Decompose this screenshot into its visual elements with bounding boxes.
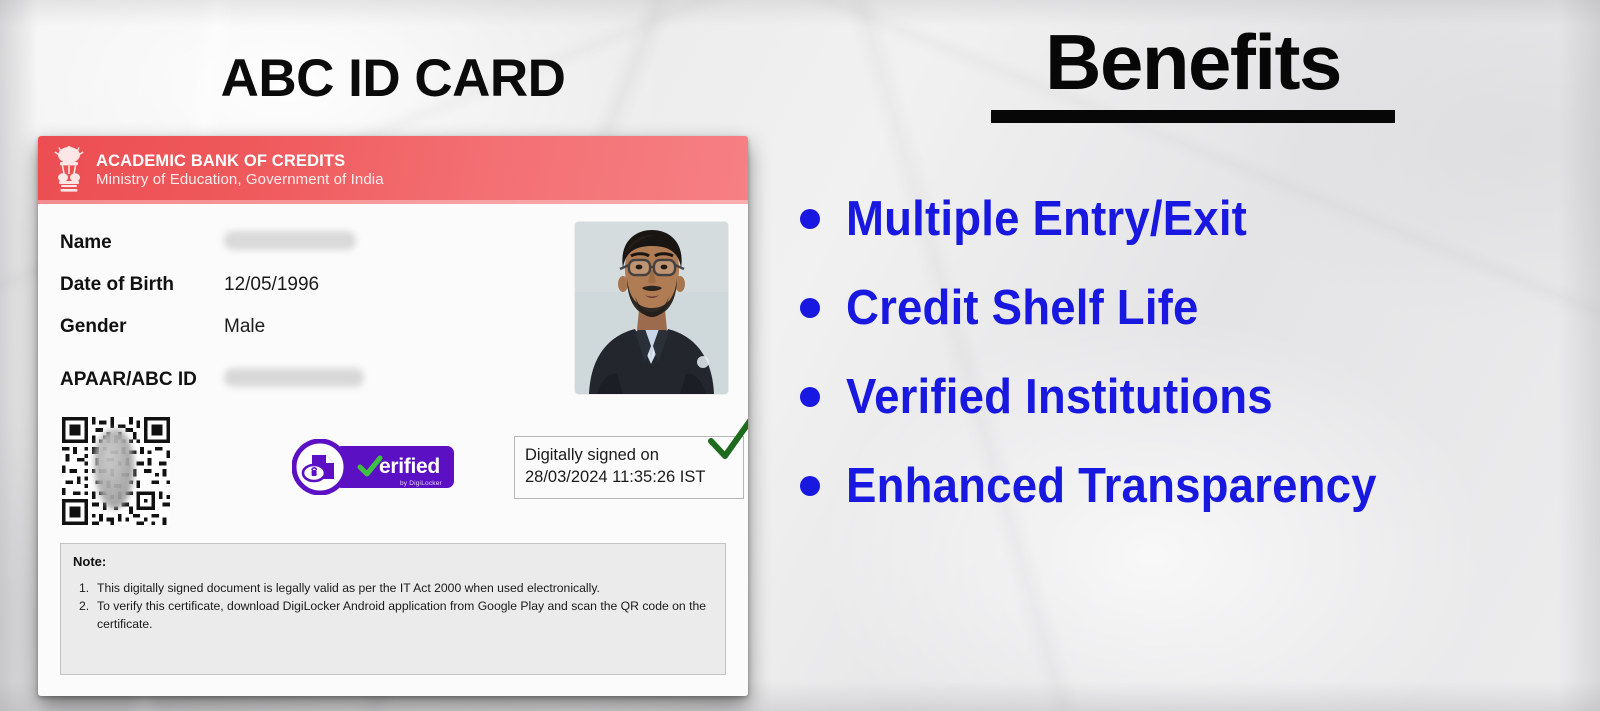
green-check-mark-icon [705, 414, 748, 462]
note-list: 1. This digitally signed document is leg… [73, 580, 713, 633]
digilocker-logo-icon [292, 439, 348, 495]
field-value-redacted [224, 368, 364, 393]
abc-id-card: ACADEMIC BANK OF CREDITS Ministry of Edu… [38, 136, 748, 696]
card-fields: Name Date of Birth 12/05/1996 Gender Mal… [60, 222, 520, 401]
signed-on-label: Digitally signed on [525, 445, 733, 467]
note-title: Note: [73, 554, 713, 569]
bullet-dot-icon [800, 298, 820, 318]
note-item: 2. To verify this certificate, download … [73, 598, 713, 633]
benefit-label: Credit Shelf Life [846, 280, 1199, 336]
field-label: Date of Birth [60, 274, 224, 296]
digilocker-verified-badge: erified by DigiLocker [292, 439, 454, 495]
slide-background: ABC ID CARD ACADE [0, 0, 1600, 711]
note-item-number: 2. [79, 598, 89, 615]
bullet-dot-icon [800, 476, 820, 496]
field-row-apaar-abc-id: APAAR/ABC ID [60, 359, 520, 401]
benefits-list: Multiple Entry/Exit Credit Shelf Life Ve… [786, 175, 1600, 531]
list-item: Enhanced Transparency [792, 442, 1600, 531]
card-header-text: ACADEMIC BANK OF CREDITS Ministry of Edu… [96, 151, 384, 189]
benefit-label: Verified Institutions [846, 369, 1273, 425]
benefits-title: Benefits [1045, 22, 1341, 104]
benefits-underline [991, 110, 1395, 123]
signed-on-timestamp: 28/03/2024 11:35:26 IST [525, 467, 733, 489]
organisation-subtitle: Ministry of Education, Government of Ind… [96, 171, 384, 189]
benefit-label: Enhanced Transparency [846, 458, 1377, 514]
bullet-dot-icon [800, 209, 820, 229]
field-row-dob: Date of Birth 12/05/1996 [60, 264, 520, 306]
organisation-name: ACADEMIC BANK OF CREDITS [96, 151, 384, 171]
card-header: ACADEMIC BANK OF CREDITS Ministry of Edu… [38, 136, 748, 204]
list-item: Credit Shelf Life [792, 264, 1600, 353]
benefit-label: Multiple Entry/Exit [846, 191, 1247, 247]
benefits-panel: Benefits Multiple Entry/Exit Credit Shel… [786, 0, 1600, 711]
verified-sublabel: by DigiLocker [400, 480, 442, 487]
field-row-gender: Gender Male [60, 306, 520, 348]
person-portrait-photo [575, 222, 728, 394]
qr-code-icon [60, 417, 172, 525]
field-label: APAAR/ABC ID [60, 369, 224, 391]
field-value-redacted [224, 231, 356, 256]
page-title: ABC ID CARD [0, 48, 786, 109]
field-label: Name [60, 232, 224, 254]
field-row-name: Name [60, 222, 520, 264]
redacted-id-value [224, 368, 364, 387]
card-body: Name Date of Birth 12/05/1996 Gender Mal… [38, 204, 748, 529]
note-item-number: 1. [79, 580, 89, 597]
note-panel: Note: 1. This digitally signed document … [60, 543, 726, 675]
benefits-heading: Benefits [786, 0, 1600, 123]
bullet-dot-icon [800, 387, 820, 407]
list-item: Verified Institutions [792, 353, 1600, 442]
redacted-name-value [224, 231, 356, 250]
list-item: Multiple Entry/Exit [792, 175, 1600, 264]
verified-label: erified [379, 455, 440, 479]
verified-pill: erified by DigiLocker [335, 446, 454, 488]
note-item: 1. This digitally signed document is leg… [73, 580, 713, 597]
note-item-text: To verify this certificate, download Dig… [97, 599, 706, 630]
field-value: 12/05/1996 [224, 274, 319, 296]
field-value: Male [224, 316, 265, 338]
india-national-emblem-icon [52, 144, 86, 196]
field-label: Gender [60, 316, 224, 338]
card-verification-row: erified by DigiLocker Digitally signed o… [60, 417, 726, 529]
note-item-text: This digitally signed document is legall… [97, 581, 600, 595]
